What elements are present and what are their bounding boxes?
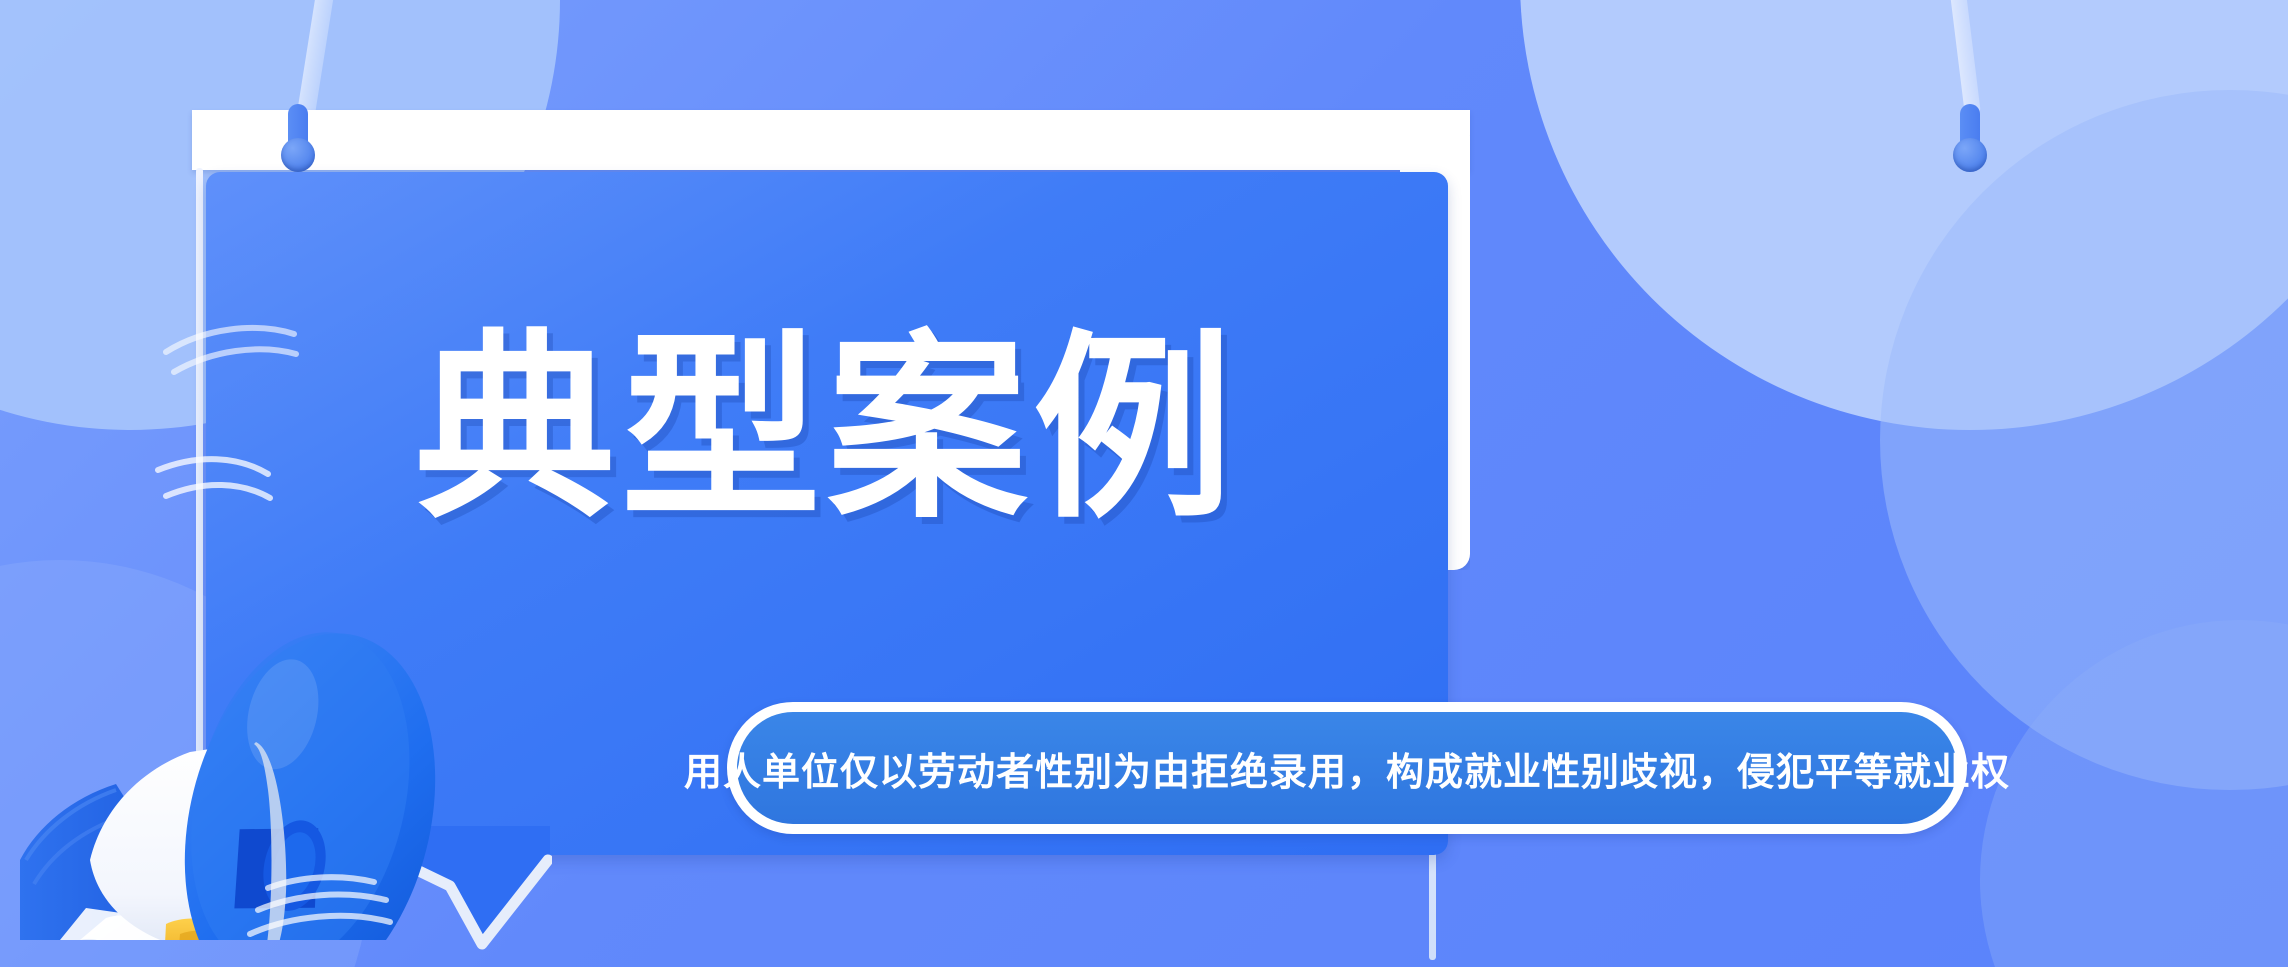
banner-stage: 典型案例 用人单位仅以劳动者性别为由拒绝录用，构成就业性别歧视，侵犯平等就业权 xyxy=(0,0,2288,967)
subtitle-pill-inner: 用人单位仅以劳动者性别为由拒绝录用，构成就业性别歧视，侵犯平等就业权 xyxy=(737,712,1957,824)
subtitle-text: 用人单位仅以劳动者性别为由拒绝录用，构成就业性别歧视，侵犯平等就业权 xyxy=(684,741,2010,796)
frame-top-bar xyxy=(192,110,1470,170)
sound-wave-icon-top xyxy=(160,300,300,380)
pin-icon-left xyxy=(288,104,308,156)
pin-icon-right xyxy=(1960,104,1980,156)
subtitle-pill: 用人单位仅以劳动者性别为由拒绝录用，构成就业性别歧视，侵犯平等就业权 xyxy=(727,702,1967,834)
sound-wave-icon-bottom xyxy=(240,860,400,950)
